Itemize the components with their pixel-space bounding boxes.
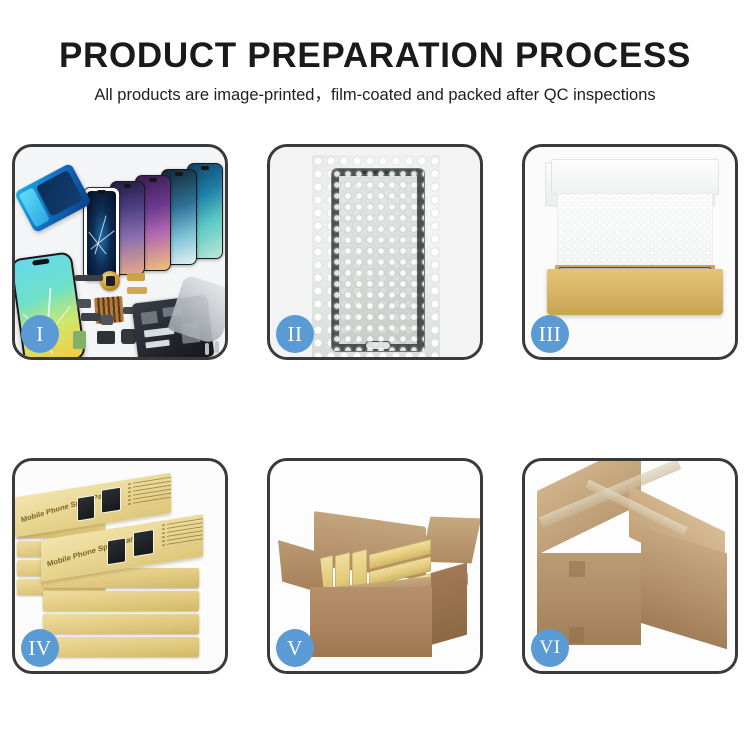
carton-front-face xyxy=(310,587,432,657)
small-component-2 xyxy=(81,313,101,321)
box-label-right: Mobile Phone Spare Parts xyxy=(46,532,140,568)
process-step-6[interactable]: VI xyxy=(522,458,738,674)
process-step-1[interactable]: I xyxy=(12,144,228,360)
box-window-right-2 xyxy=(133,529,154,557)
box-checklist-left xyxy=(133,476,171,506)
process-step-3[interactable]: III xyxy=(522,144,738,360)
small-component-1 xyxy=(77,299,91,308)
phone-screen-assembly xyxy=(332,169,424,351)
box-window-left-2 xyxy=(101,487,121,514)
process-step-grid: I II xyxy=(12,144,738,674)
process-step-4[interactable]: Mobile Phone Spare Parts Mobile Phone Sp… xyxy=(12,458,228,674)
carton-right-side xyxy=(431,563,467,645)
box-window-left-1 xyxy=(77,495,95,522)
carton-patch-lower xyxy=(569,627,584,643)
flex-cable-part-1 xyxy=(75,275,103,281)
box-lid-back-panel xyxy=(551,159,719,195)
step-badge-4: IV xyxy=(21,629,59,667)
screw-part-1 xyxy=(205,343,209,355)
page-title: PRODUCT PREPARATION PROCESS xyxy=(0,38,750,73)
page-subtitle: All products are image-printed，film-coat… xyxy=(0,87,750,104)
step-badge-3: III xyxy=(531,315,569,353)
camera-module xyxy=(121,329,136,344)
header: PRODUCT PREPARATION PROCESS All products… xyxy=(0,0,750,104)
step-badge-1: I xyxy=(21,315,59,353)
box-checklist-right xyxy=(167,518,203,548)
screw-part-2 xyxy=(215,341,219,353)
speaker-module xyxy=(97,331,115,344)
box-window-right-1 xyxy=(107,537,126,565)
flex-cable-part-2 xyxy=(127,273,145,281)
battery-connector xyxy=(73,331,86,349)
vibration-motor-part xyxy=(100,271,120,291)
box-label-left: Mobile Phone Spare Parts xyxy=(20,489,112,525)
phone-screen-artwork xyxy=(87,191,116,277)
retail-box-stack-right-3 xyxy=(43,591,199,611)
carton-patch-upper xyxy=(569,561,585,577)
process-step-2[interactable]: II xyxy=(267,144,483,360)
step-badge-2: II xyxy=(276,315,314,353)
retail-box-stack-right-4 xyxy=(43,614,199,634)
flex-cable-part-3 xyxy=(127,287,147,294)
step-badge-6: VI xyxy=(531,629,569,667)
home-button-cutout xyxy=(365,341,391,350)
kraft-box-front xyxy=(547,269,723,315)
retail-box-stack-right-5 xyxy=(43,637,199,657)
charging-port-part xyxy=(101,315,113,325)
step-badge-5: V xyxy=(276,629,314,667)
process-step-5[interactable]: V xyxy=(267,458,483,674)
product-preparation-process-page: PRODUCT PREPARATION PROCESS All products… xyxy=(0,0,750,750)
